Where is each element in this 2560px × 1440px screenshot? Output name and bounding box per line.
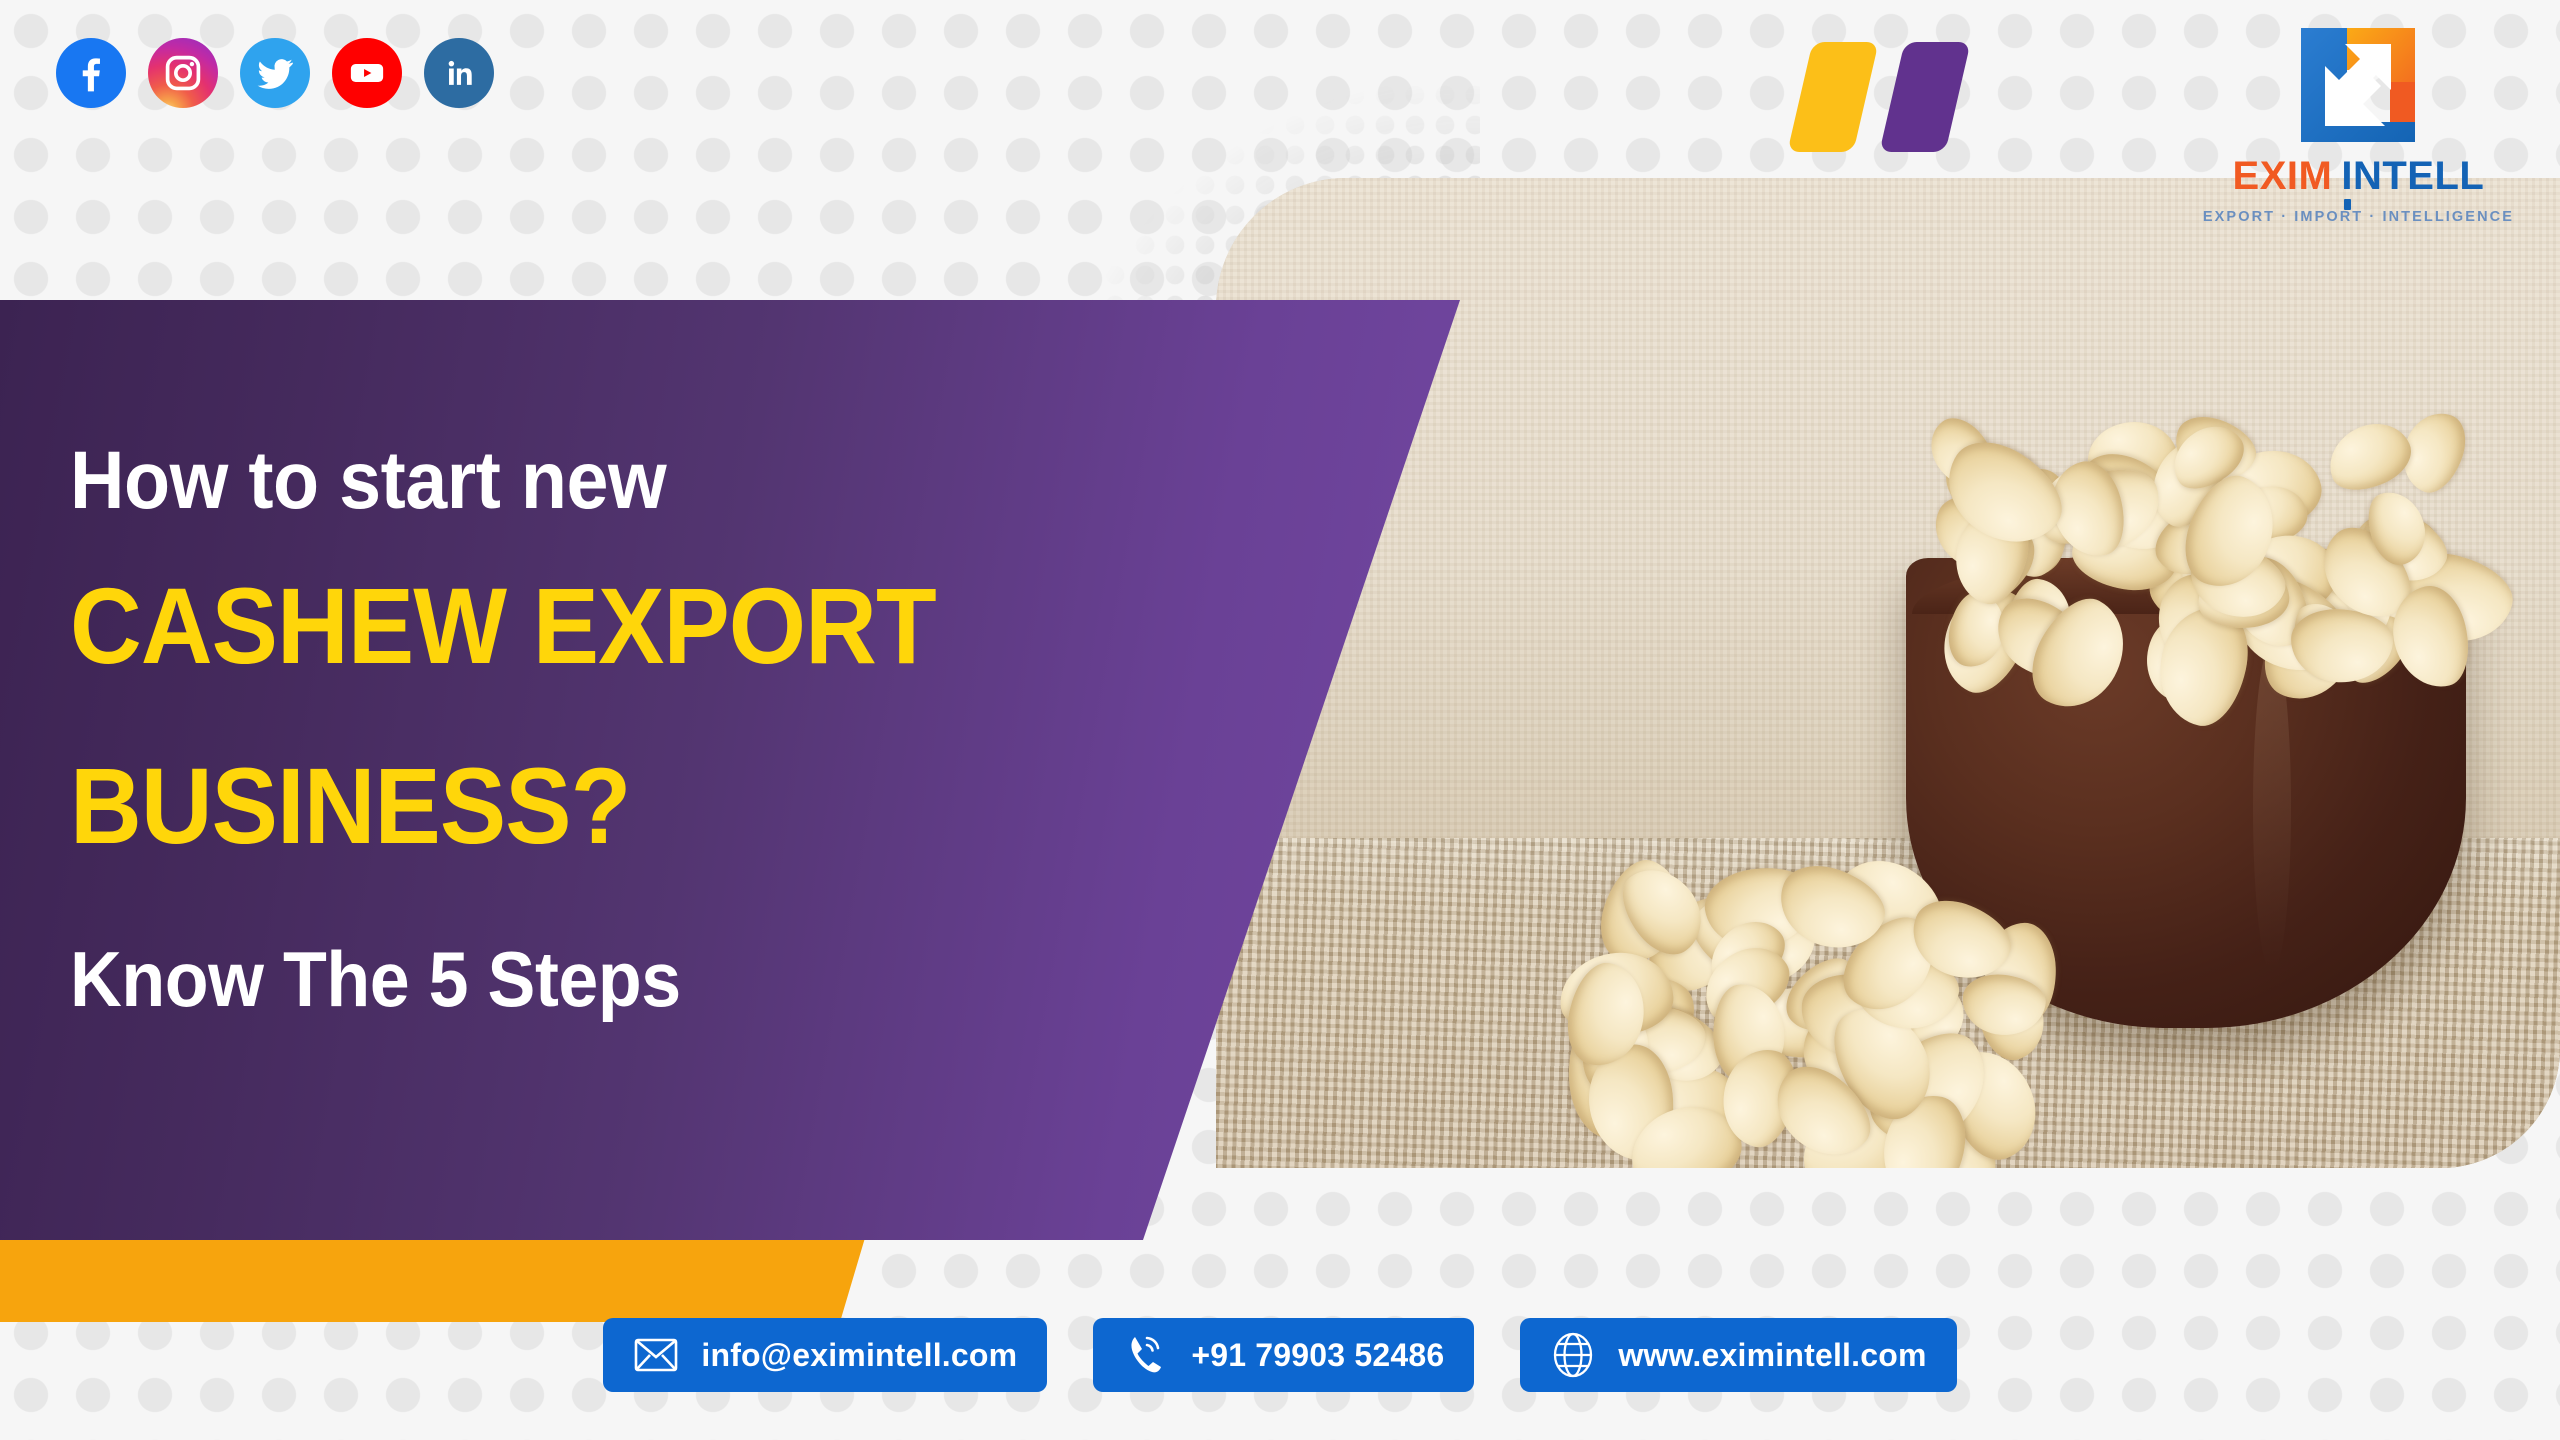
quote-bar-purple: [1879, 42, 1970, 152]
brand-name-intell-text: INTELL: [2341, 154, 2484, 198]
contact-website-button[interactable]: www.eximintell.com: [1520, 1318, 1956, 1392]
cashew-pile-spilled: [1546, 858, 2026, 1168]
logo-i-dot-accent: [2344, 199, 2351, 210]
cashew-pile-in-bowl: [1916, 418, 2476, 658]
purple-panel: How to start new CASHEW EXPORT BUSINESS?…: [0, 300, 1460, 1260]
youtube-icon: [345, 51, 389, 95]
envelope-icon: [633, 1332, 679, 1378]
headline-panel: How to start new CASHEW EXPORT BUSINESS?…: [0, 300, 1480, 1260]
contact-email-label: info@eximintell.com: [701, 1337, 1017, 1374]
brand-name-intell: INTELL: [2341, 154, 2484, 199]
brand-wordmark: EXIM INTELL: [2233, 154, 2485, 199]
brand-logo[interactable]: EXIM INTELL EXPORT · IMPORT · INTELLIGEN…: [2203, 22, 2514, 225]
linkedin-icon: [438, 52, 480, 94]
cashew-nut: [2319, 412, 2420, 502]
globe-icon: [1550, 1332, 1596, 1378]
social-link-twitter[interactable]: [240, 38, 310, 108]
phone-icon: [1123, 1332, 1169, 1378]
quote-mark-decoration: [1800, 42, 1958, 152]
contact-email-button[interactable]: info@eximintell.com: [603, 1318, 1047, 1392]
headline-line-3: BUSINESS?: [70, 752, 630, 860]
brand-name-exim: EXIM: [2233, 154, 2333, 199]
contact-phone-label: +91 79903 52486: [1191, 1337, 1444, 1374]
contact-bar: info@eximintell.com +91 79903 52486: [0, 1318, 2560, 1392]
social-icon-bar: [56, 38, 494, 108]
twitter-icon: [253, 51, 297, 95]
quote-bar-yellow: [1787, 42, 1878, 152]
social-link-facebook[interactable]: [56, 38, 126, 108]
headline-line-4: Know The 5 Steps: [70, 940, 681, 1018]
social-link-youtube[interactable]: [332, 38, 402, 108]
headline-line-1: How to start new: [70, 440, 666, 522]
exim-arrow-square-logo-icon: [2295, 22, 2421, 148]
poster-canvas: EXIM INTELL EXPORT · IMPORT · INTELLIGEN…: [0, 0, 2560, 1440]
social-link-linkedin[interactable]: [424, 38, 494, 108]
contact-website-label: www.eximintell.com: [1618, 1337, 1926, 1374]
facebook-icon: [69, 51, 113, 95]
instagram-icon: [162, 52, 204, 94]
brand-tagline: EXPORT · IMPORT · INTELLIGENCE: [2203, 209, 2514, 225]
headline-line-2: CASHEW EXPORT: [70, 572, 936, 680]
social-link-instagram[interactable]: [148, 38, 218, 108]
contact-phone-button[interactable]: +91 79903 52486: [1093, 1318, 1474, 1392]
